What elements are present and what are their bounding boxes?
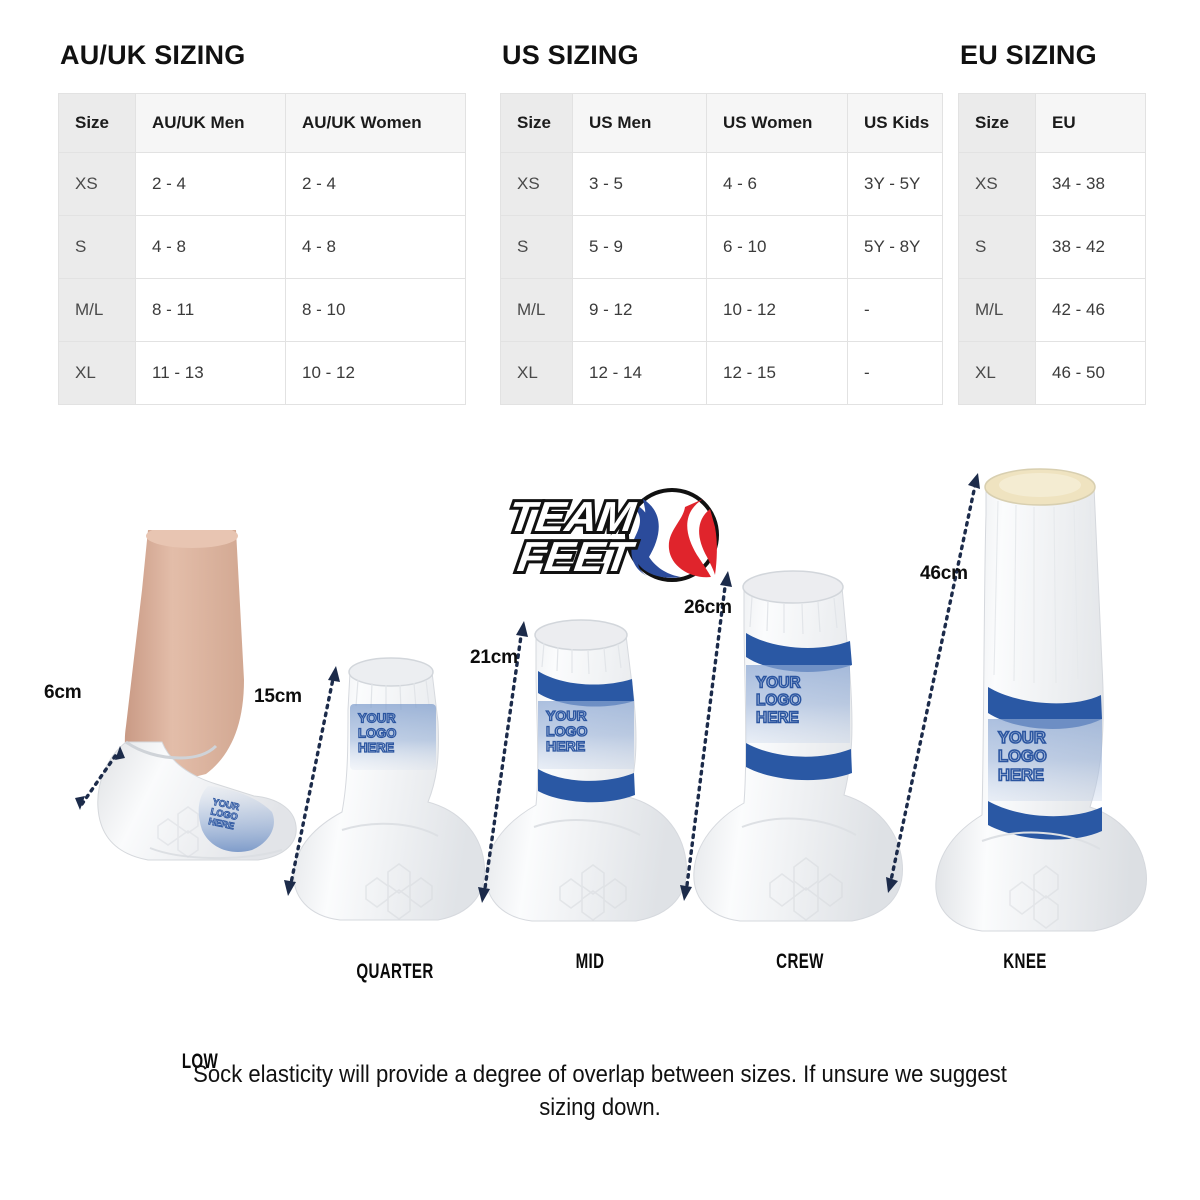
table-row: XS 2 - 4 2 - 4 <box>59 153 466 216</box>
column-header-size: Size <box>959 94 1036 153</box>
column-header-size: Size <box>501 94 573 153</box>
cell-women: 4 - 6 <box>707 153 848 216</box>
sock-cuff-crew <box>743 571 843 603</box>
logo-line-2: LOGO <box>998 747 1047 766</box>
table-row: XL 11 - 13 10 - 12 <box>59 342 466 405</box>
cell-size: XS <box>59 153 136 216</box>
cell-eu: 38 - 42 <box>1036 216 1146 279</box>
table-row: XS 3 - 5 4 - 6 3Y - 5Y <box>501 153 943 216</box>
sock-length-comparison: YOUR LOGO HERE 6cm LOW <box>0 440 1200 1010</box>
footnote-text: Sock elasticity will provide a degree of… <box>186 1058 1014 1124</box>
table-header-row: Size US Men US Women US Kids <box>501 94 943 153</box>
cell-kids: 3Y - 5Y <box>848 153 943 216</box>
eu-sizing-title: EU SIZING <box>960 40 1146 71</box>
sock-cuff-quarter <box>349 658 433 686</box>
column-header-us-women: US Women <box>707 94 848 153</box>
cell-size: XL <box>501 342 573 405</box>
cell-size: M/L <box>959 279 1036 342</box>
cell-eu: 42 - 46 <box>1036 279 1146 342</box>
sock-illustration-knee: YOUR LOGO HERE <box>870 455 1170 975</box>
column-header-us-kids: US Kids <box>848 94 943 153</box>
cell-men: 8 - 11 <box>136 279 286 342</box>
sock-label-knee: KNEE <box>978 950 1072 974</box>
cell-women: 10 - 12 <box>286 342 466 405</box>
cell-size: XL <box>959 342 1036 405</box>
cell-kids: - <box>848 342 943 405</box>
au-uk-sizing-title: AU/UK SIZING <box>60 40 466 71</box>
cell-women: 12 - 15 <box>707 342 848 405</box>
cell-men: 11 - 13 <box>136 342 286 405</box>
cell-size: XS <box>959 153 1036 216</box>
logo-line-2: LOGO <box>546 723 588 739</box>
us-sizing-block: US SIZING Size US Men US Women US Kids X… <box>500 40 943 405</box>
logo-line-1: YOUR <box>756 675 800 692</box>
us-sizing-table: Size US Men US Women US Kids XS 3 - 5 4 … <box>500 93 943 405</box>
au-uk-sizing-block: AU/UK SIZING Size AU/UK Men AU/UK Women … <box>58 40 466 405</box>
mannequin-leg-inside-knee <box>999 473 1081 497</box>
cell-men: 9 - 12 <box>573 279 707 342</box>
table-row: M/L 8 - 11 8 - 10 <box>59 279 466 342</box>
table-row: XS 34 - 38 <box>959 153 1146 216</box>
cell-size: S <box>59 216 136 279</box>
au-uk-sizing-table: Size AU/UK Men AU/UK Women XS 2 - 4 2 - … <box>58 93 466 405</box>
cell-eu: 34 - 38 <box>1036 153 1146 216</box>
table-row: S 5 - 9 6 - 10 5Y - 8Y <box>501 216 943 279</box>
column-header-size: Size <box>59 94 136 153</box>
table-row: M/L 9 - 12 10 - 12 - <box>501 279 943 342</box>
cell-men: 12 - 14 <box>573 342 707 405</box>
cell-size: M/L <box>59 279 136 342</box>
eu-sizing-table: Size EU XS 34 - 38 S 38 - 42 M/L 42 - 46 <box>958 93 1146 405</box>
table-row: M/L 42 - 46 <box>959 279 1146 342</box>
sock-figure-knee: YOUR LOGO HERE 46cm KNEE <box>870 455 1170 975</box>
logo-line-3: HERE <box>756 710 799 727</box>
sock-label-quarter: QUARTER <box>341 960 449 984</box>
cell-women: 10 - 12 <box>707 279 848 342</box>
cell-size: S <box>501 216 573 279</box>
cell-women: 8 - 10 <box>286 279 466 342</box>
sock-cuff-mid <box>535 620 627 650</box>
logo-line-2: LOGO <box>756 692 801 709</box>
logo-line-3: HERE <box>546 738 585 754</box>
measurement-label-quarter: 15cm <box>254 686 302 708</box>
cell-kids: 5Y - 8Y <box>848 216 943 279</box>
cell-women: 6 - 10 <box>707 216 848 279</box>
table-header-row: Size AU/UK Men AU/UK Women <box>59 94 466 153</box>
cell-size: S <box>959 216 1036 279</box>
table-row: S 38 - 42 <box>959 216 1146 279</box>
sock-label-mid: MID <box>540 950 641 974</box>
cell-size: M/L <box>501 279 573 342</box>
us-sizing-title: US SIZING <box>502 40 943 71</box>
logo-line-2: LOGO <box>358 725 396 740</box>
table-row: XL 12 - 14 12 - 15 - <box>501 342 943 405</box>
sock-label-crew: CREW <box>750 950 851 974</box>
table-row: XL 46 - 50 <box>959 342 1146 405</box>
column-header-au-uk-men: AU/UK Men <box>136 94 286 153</box>
table-row: S 4 - 8 4 - 8 <box>59 216 466 279</box>
column-header-au-uk-women: AU/UK Women <box>286 94 466 153</box>
measurement-label-crew: 26cm <box>684 597 732 619</box>
measurement-label-low: 6cm <box>44 682 81 704</box>
logo-line-1: YOUR <box>358 710 396 725</box>
table-header-row: Size EU <box>959 94 1146 153</box>
cell-eu: 46 - 50 <box>1036 342 1146 405</box>
logo-line-3: HERE <box>998 765 1044 784</box>
sock-logo-text-mid: YOUR LOGO HERE <box>546 707 588 754</box>
cell-men: 4 - 8 <box>136 216 286 279</box>
column-header-us-men: US Men <box>573 94 707 153</box>
measurement-label-knee: 46cm <box>920 563 968 585</box>
cell-women: 2 - 4 <box>286 153 466 216</box>
column-header-eu: EU <box>1036 94 1146 153</box>
cell-kids: - <box>848 279 943 342</box>
sock-logo-text-crew: YOUR LOGO HERE <box>756 675 801 727</box>
sizing-tables-section: AU/UK SIZING Size AU/UK Men AU/UK Women … <box>0 0 1200 440</box>
logo-line-1: YOUR <box>546 707 587 723</box>
cell-size: XS <box>501 153 573 216</box>
logo-line-1: YOUR <box>998 728 1046 747</box>
cell-women: 4 - 8 <box>286 216 466 279</box>
sock-logo-text-quarter: YOUR LOGO HERE <box>358 710 396 755</box>
cell-size: XL <box>59 342 136 405</box>
cell-men: 3 - 5 <box>573 153 707 216</box>
sock-logo-text-knee: YOUR LOGO HERE <box>998 728 1047 784</box>
cell-men: 2 - 4 <box>136 153 286 216</box>
logo-line-3: HERE <box>358 740 394 755</box>
measurement-label-mid: 21cm <box>470 647 518 669</box>
cell-men: 5 - 9 <box>573 216 707 279</box>
eu-sizing-block: EU SIZING Size EU XS 34 - 38 S 38 - 42 <box>958 40 1146 405</box>
